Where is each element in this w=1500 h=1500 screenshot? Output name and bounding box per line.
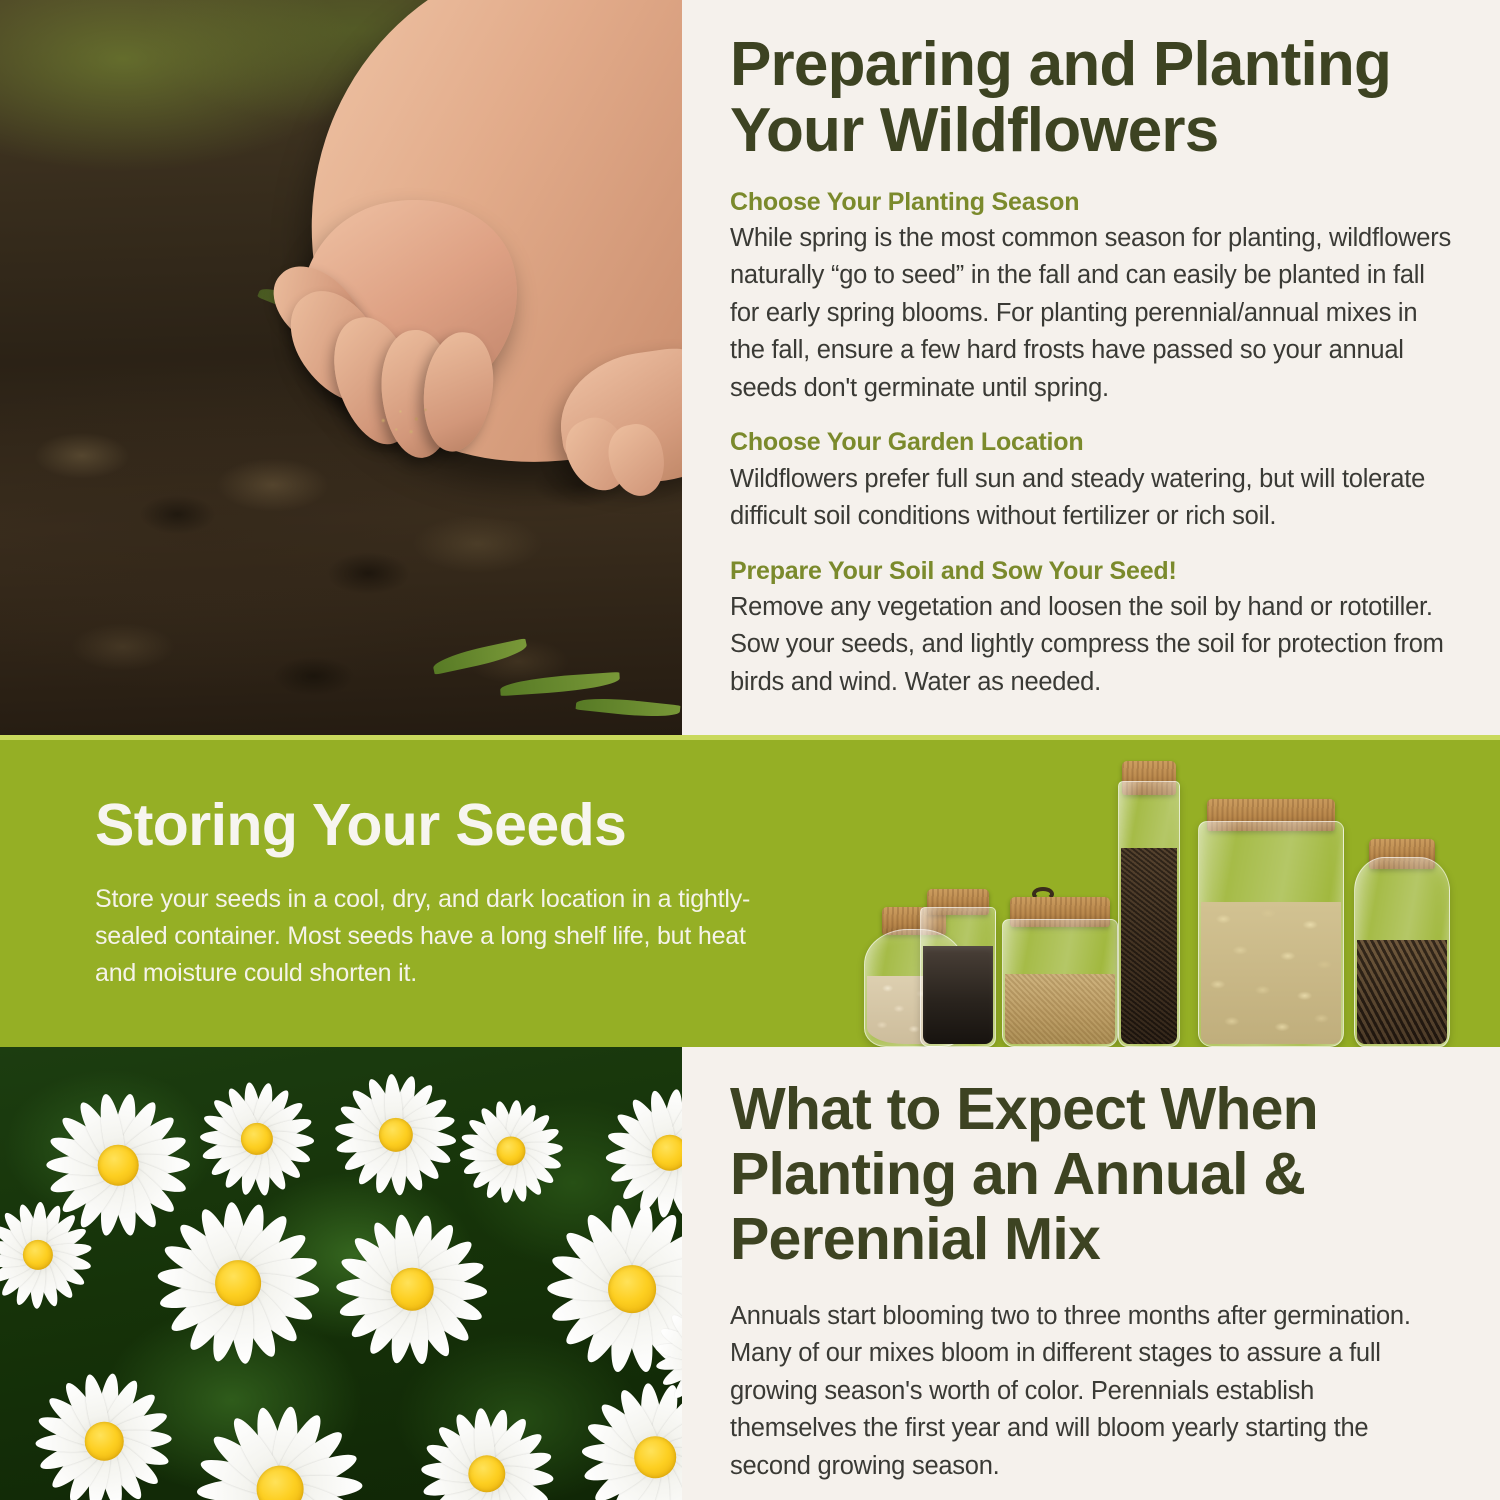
expectations-body: Annuals start blooming two to three mont… [730,1298,1440,1485]
daisy-center [215,1260,261,1306]
jar-black-seeds [920,887,996,1047]
planting-title: Preparing and Planting Your Wildflowers [730,32,1452,165]
jar-pumpkin-seeds [1198,797,1344,1047]
wildflower-planting-infographic: Preparing and Planting Your Wildflowers … [0,0,1500,1500]
daisy-center [85,1422,124,1461]
jar-tall-dark-seeds [1118,757,1180,1047]
daisy-flower [150,1195,326,1371]
expectations-text-column: What to Expect When Planting an Annual &… [682,1047,1500,1500]
soil-sowing-photo [0,0,682,735]
seed-fill [1357,940,1447,1044]
subtitle-garden-location: Choose Your Garden Location [730,427,1452,458]
daisy-flower [455,1095,567,1207]
planting-text-column: Preparing and Planting Your Wildflowers … [682,0,1500,735]
glass-body [1198,821,1344,1047]
storing-text-column: Storing Your Seeds Store your seeds in a… [95,795,755,992]
body-planting-season: While spring is the most common season f… [730,220,1452,407]
expectations-title: What to Expect When Planting an Annual &… [730,1077,1440,1272]
seed-fill [1005,974,1115,1044]
body-prepare-soil: Remove any vegetation and loosen the soi… [730,589,1452,701]
subtitle-planting-season: Choose Your Planting Season [730,187,1452,218]
subtitle-prepare-soil: Prepare Your Soil and Sow Your Seed! [730,556,1452,587]
daisy-center [496,1136,525,1165]
seed-fill [1201,902,1341,1044]
seed-jars-photo [850,757,1470,1047]
jar-striped-seeds [1354,832,1450,1047]
storing-body: Store your seeds in a cool, dry, and dar… [95,881,755,992]
glass-body [1354,857,1450,1047]
glass-body [920,907,996,1047]
body-garden-location: Wildflowers prefer full sun and steady w… [730,461,1452,536]
daisy-center [391,1268,434,1311]
daisy-flower [330,1069,462,1201]
expectations-section: What to Expect When Planting an Annual &… [0,1047,1500,1500]
daisy-center [634,1436,676,1478]
daisy-flower [330,1207,494,1371]
planting-section: Preparing and Planting Your Wildflowers … [0,0,1500,735]
seed-fill [923,946,993,1044]
glass-body [1002,919,1118,1047]
daisy-center [652,1135,682,1171]
storing-title: Storing Your Seeds [95,795,755,857]
jar-fine-tan-seeds [1002,897,1118,1047]
daisy-center [608,1265,656,1313]
daisy-flower [195,1077,319,1201]
storing-seeds-band: Storing Your Seeds Store your seeds in a… [0,735,1500,1047]
seed-fill [1121,848,1177,1044]
glass-body [1118,781,1180,1047]
daisies-photo [0,1047,682,1500]
daisy-center [98,1145,139,1186]
